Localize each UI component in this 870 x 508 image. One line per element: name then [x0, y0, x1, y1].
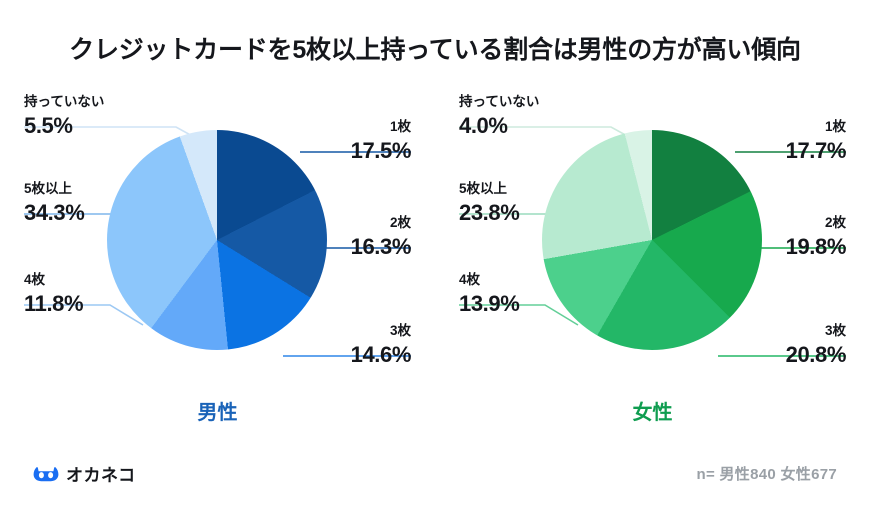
label-value: 19.8% [786, 234, 846, 260]
label-value: 17.5% [351, 138, 411, 164]
brand-logo: オカネコ [33, 461, 136, 486]
label-female-one: 1枚 17.7% [786, 119, 846, 164]
label-male-five-plus: 5枚以上 34.3% [24, 181, 84, 226]
label-category: 1枚 [786, 119, 846, 135]
label-value: 11.8% [24, 291, 83, 317]
label-category: 3枚 [786, 323, 846, 339]
label-female-five-plus: 5枚以上 23.8% [459, 181, 519, 226]
page-title: クレジットカードを5枚以上持っている割合は男性の方が高い傾向 [0, 30, 870, 66]
label-category: 4枚 [459, 272, 519, 288]
label-female-none: 持っていない 4.0% [459, 94, 539, 139]
label-value: 13.9% [459, 291, 519, 317]
label-value: 23.8% [459, 200, 519, 226]
label-category: 持っていない [24, 94, 104, 110]
label-male-two: 2枚 16.3% [351, 215, 411, 260]
label-category: 持っていない [459, 94, 539, 110]
label-value: 34.3% [24, 200, 84, 226]
gender-caption-male: 男性 [0, 396, 435, 425]
sample-size-note: n= 男性840 女性677 [696, 463, 837, 484]
label-category: 2枚 [351, 215, 411, 231]
pie-chart-male [107, 130, 327, 350]
chart-panel-female: 持っていない 4.0% 5枚以上 23.8% 4枚 13.9% 1枚 17.7%… [435, 88, 870, 428]
label-male-one: 1枚 17.5% [351, 119, 411, 164]
label-value: 16.3% [351, 234, 411, 260]
label-category: 5枚以上 [459, 181, 519, 197]
infographic-page: クレジットカードを5枚以上持っている割合は男性の方が高い傾向 持っていない 5.… [0, 0, 870, 508]
label-value: 4.0% [459, 113, 539, 139]
label-value: 5.5% [24, 113, 104, 139]
label-female-three: 3枚 20.8% [786, 323, 846, 368]
label-category: 1枚 [351, 119, 411, 135]
label-category: 5枚以上 [24, 181, 84, 197]
label-category: 3枚 [351, 323, 411, 339]
label-value: 20.8% [786, 342, 846, 368]
label-male-three: 3枚 14.6% [351, 323, 411, 368]
okaneko-cat-face-icon [33, 466, 59, 482]
label-category: 4枚 [24, 272, 83, 288]
label-value: 17.7% [786, 138, 846, 164]
pie-slices-female [542, 130, 762, 350]
label-female-four: 4枚 13.9% [459, 272, 519, 317]
gender-caption-female: 女性 [435, 396, 870, 425]
label-female-two: 2枚 19.8% [786, 215, 846, 260]
label-male-four: 4枚 11.8% [24, 272, 83, 317]
brand-logo-text: オカネコ [66, 461, 136, 486]
chart-panel-male: 持っていない 5.5% 5枚以上 34.3% 4枚 11.8% 1枚 17.5%… [0, 88, 435, 428]
pie-chart-female [542, 130, 762, 350]
label-value: 14.6% [351, 342, 411, 368]
label-category: 2枚 [786, 215, 846, 231]
pie-slices-male [107, 130, 327, 350]
label-male-none: 持っていない 5.5% [24, 94, 104, 139]
